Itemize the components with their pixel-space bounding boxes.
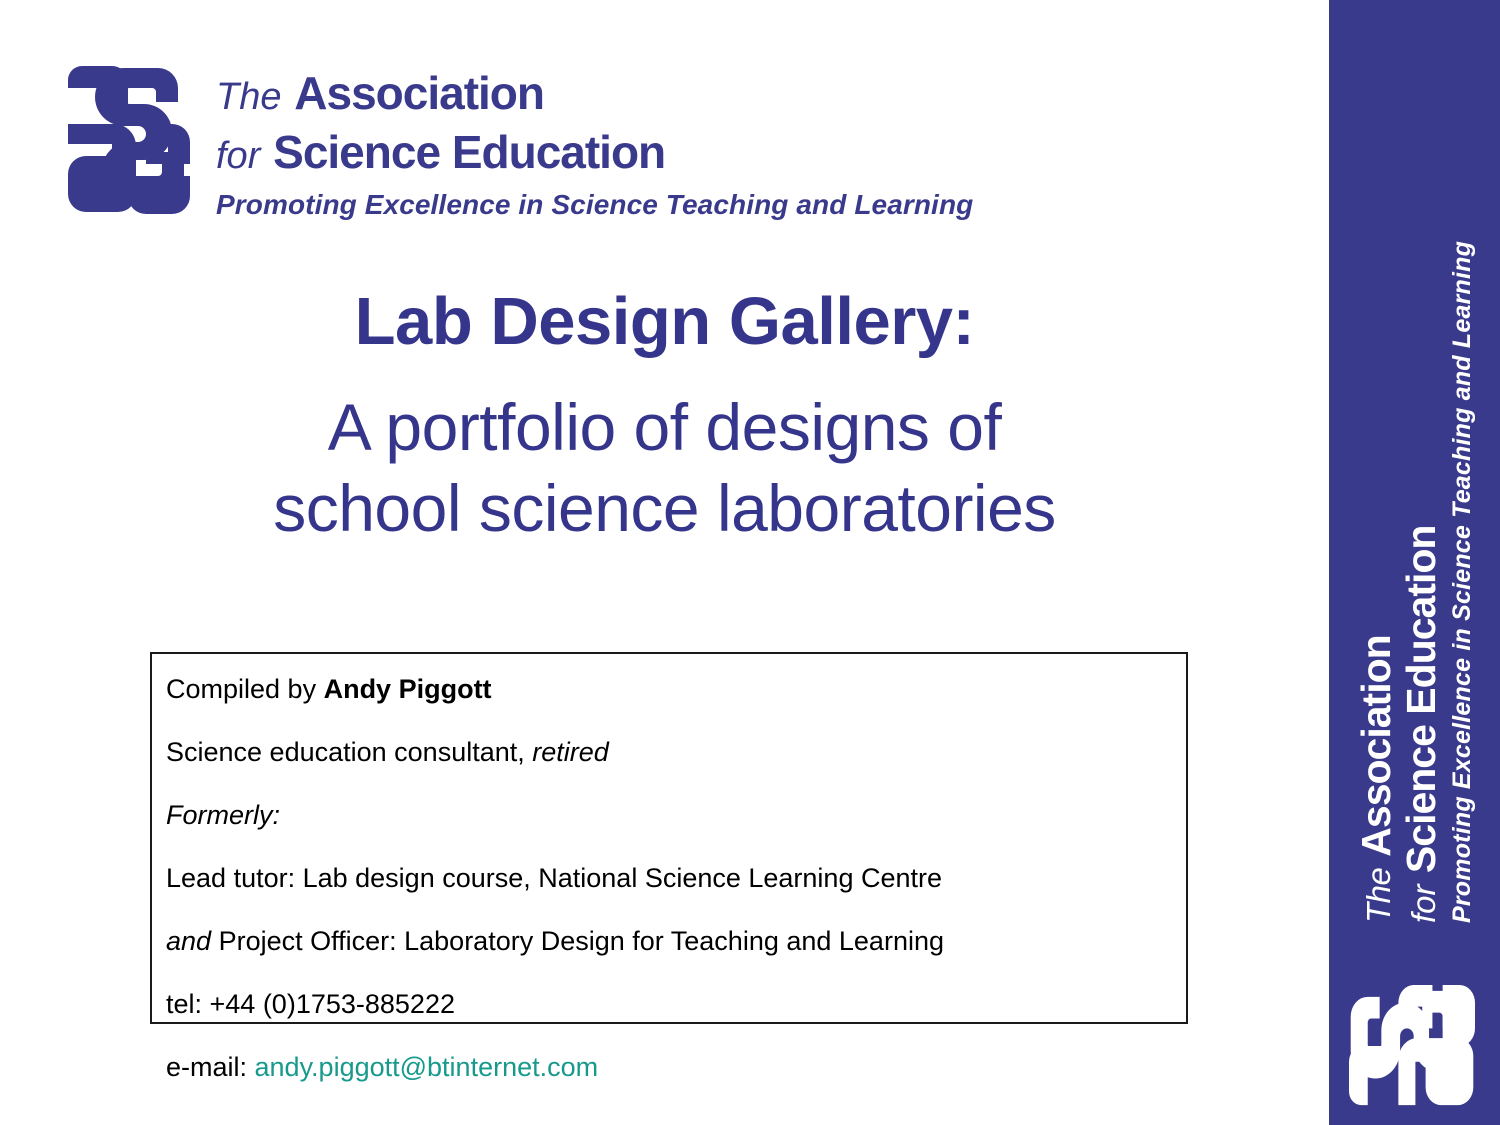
- ase-header-logo: The Association for Science Education Pr…: [62, 66, 973, 221]
- sidebar-wordmark-association: Association: [1352, 635, 1398, 856]
- sidebar-wordmark-line-1: The Association: [1355, 635, 1396, 923]
- wordmark-tagline: Promoting Excellence in Science Teaching…: [216, 189, 973, 221]
- role-label: Science education consultant,: [166, 737, 532, 767]
- wordmark-line-2: for Science Education: [216, 129, 973, 175]
- info-line-project-officer: and Project Officer: Laboratory Design f…: [166, 928, 1186, 955]
- sidebar-wordmark-science-education: Science Education: [1397, 525, 1443, 873]
- sidebar-wordmark-for: for: [1404, 884, 1441, 923]
- brand-sidebar: The Association for Science Education Pr…: [1329, 0, 1500, 1125]
- and-connector: and: [166, 926, 211, 956]
- sidebar-wordmark-tagline: Promoting Excellence in Science Teaching…: [1449, 240, 1474, 922]
- ase-monogram-logo-icon: [62, 66, 190, 214]
- author-info-box: Compiled by Andy Piggott Science educati…: [150, 652, 1188, 1024]
- sidebar-wordmark: The Association for Science Education Pr…: [1340, 203, 1490, 923]
- wordmark-the: The: [216, 76, 281, 118]
- formerly-label: Formerly:: [166, 800, 280, 830]
- ase-wordmark: The Association for Science Education Pr…: [216, 70, 973, 221]
- wordmark-line-1: The Association: [216, 70, 973, 116]
- info-line-telephone: tel: +44 (0)1753-885222: [166, 991, 1186, 1018]
- author-name: Andy Piggott: [324, 674, 492, 704]
- sidebar-ase-monogram-logo-icon: [1349, 985, 1475, 1111]
- compiled-by-label: Compiled by: [166, 674, 324, 704]
- info-line-lead-tutor: Lead tutor: Lab design course, National …: [166, 865, 1186, 892]
- info-line-compiled-by: Compiled by Andy Piggott: [166, 676, 1186, 703]
- wordmark-for: for: [216, 135, 260, 177]
- wordmark-association: Association: [294, 67, 544, 119]
- page-subtitle-line-1: A portfolio of designs of: [0, 387, 1329, 468]
- sidebar-wordmark-line-2: for Science Education: [1400, 525, 1441, 922]
- info-line-role: Science education consultant, retired: [166, 739, 1186, 766]
- email-link[interactable]: andy.piggott@btinternet.com: [255, 1052, 599, 1082]
- slide-canvas: The Association for Science Education Pr…: [0, 0, 1500, 1125]
- info-line-email: e-mail: andy.piggott@btinternet.com: [166, 1054, 1186, 1081]
- title-block: Lab Design Gallery: A portfolio of desig…: [0, 288, 1329, 549]
- email-label: e-mail:: [166, 1052, 255, 1082]
- sidebar-wordmark-the: The: [1359, 867, 1396, 922]
- page-title: Lab Design Gallery:: [0, 288, 1329, 355]
- info-line-formerly-heading: Formerly:: [166, 802, 1186, 829]
- role-status: retired: [532, 737, 609, 767]
- wordmark-science-education: Science Education: [273, 126, 665, 178]
- page-subtitle: A portfolio of designs of school science…: [0, 387, 1329, 549]
- page-subtitle-line-2: school science laboratories: [0, 468, 1329, 549]
- project-officer-text: Project Officer: Laboratory Design for T…: [211, 926, 944, 956]
